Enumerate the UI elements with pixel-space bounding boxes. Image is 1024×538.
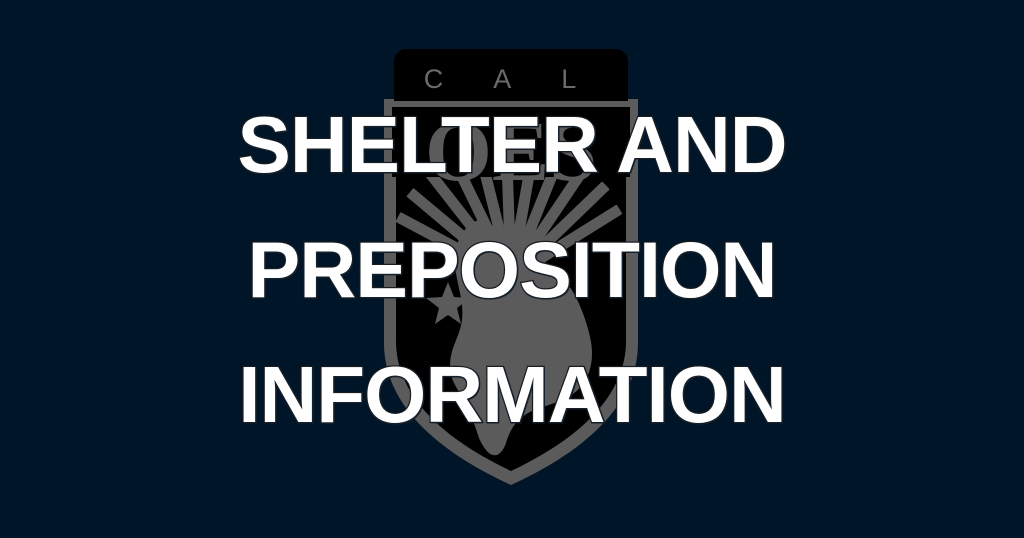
logo-wordmark: OES bbox=[425, 103, 597, 199]
poster-canvas: OES C A L SHELTER AND PREPOSITION INFORM… bbox=[0, 0, 1024, 538]
logo-backdrop: OES C A L bbox=[0, 0, 1024, 538]
cal-oes-shield-logo: OES C A L bbox=[382, 47, 640, 487]
logo-header-text: C A L bbox=[424, 64, 599, 94]
